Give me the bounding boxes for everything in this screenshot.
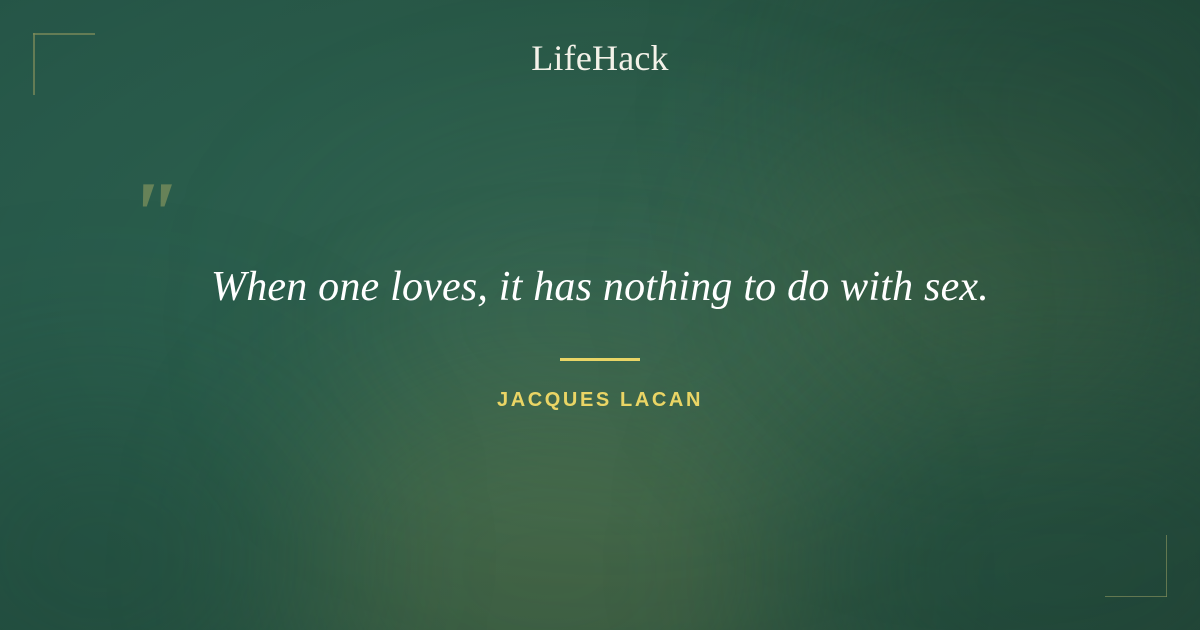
quote-author: JACQUES LACAN [0, 389, 1200, 412]
brand-logo: LifeHack [0, 40, 1200, 76]
divider-container [0, 358, 1200, 361]
quotation-mark-icon: " [126, 168, 178, 262]
quote-container: When one loves, it has nothing to do wit… [0, 262, 1200, 313]
gold-divider [560, 358, 640, 361]
quote-card: LifeHack " When one loves, it has nothin… [0, 0, 1200, 630]
corner-bracket-bottom-right-icon [1105, 535, 1167, 597]
background-vignette [0, 0, 1200, 630]
quote-text: When one loves, it has nothing to do wit… [90, 262, 1110, 313]
